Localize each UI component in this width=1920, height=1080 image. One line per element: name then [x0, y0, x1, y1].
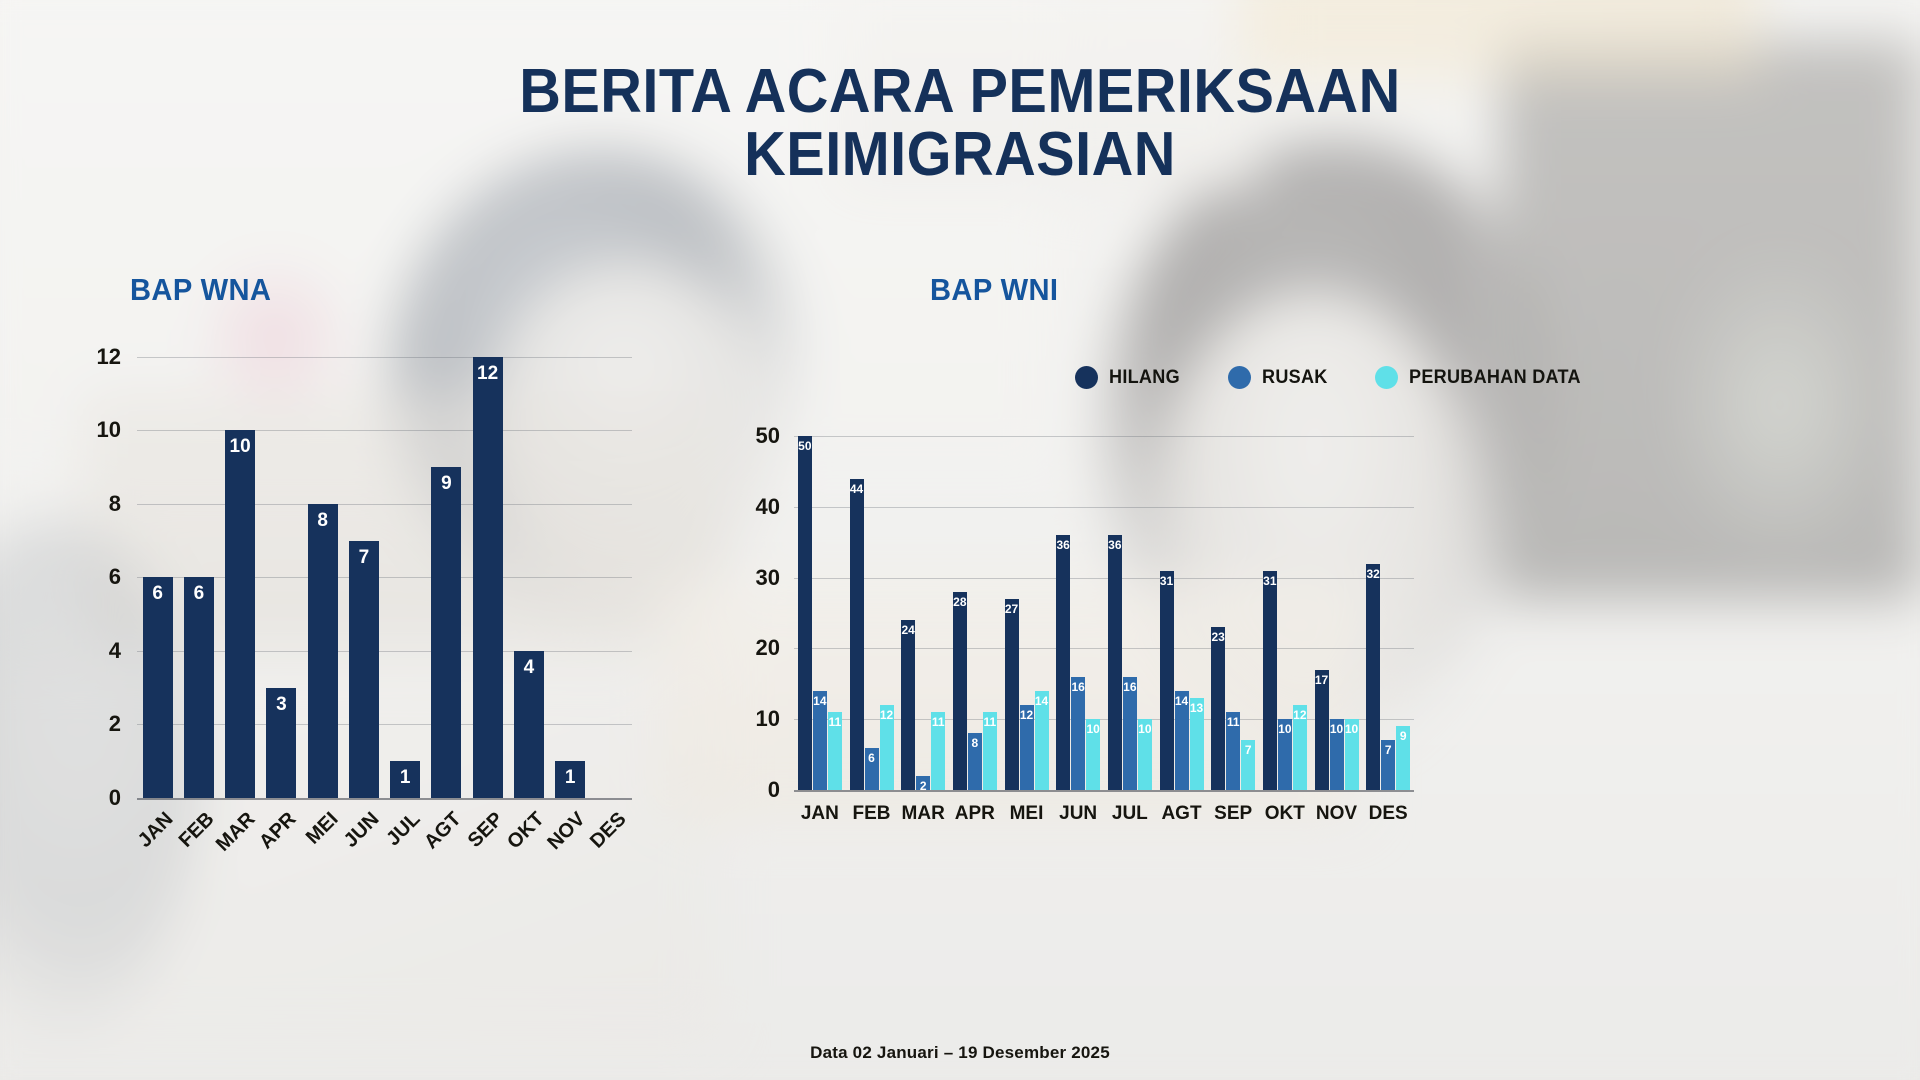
bar-value-label: 16: [1123, 680, 1136, 694]
bar-value-label: 31: [1160, 574, 1173, 588]
bar-hilang-okt[interactable]: 31: [1263, 571, 1277, 790]
bar-rusak-okt[interactable]: 10: [1278, 719, 1292, 790]
legend-item-hilang[interactable]: HILANG: [1075, 366, 1184, 389]
x-axis-tick-label-agt: AGT: [1161, 803, 1201, 825]
bar-value-label: 14: [813, 694, 826, 708]
bar-value-label: 28: [953, 595, 966, 609]
bar-hilang-sep[interactable]: 23: [1211, 627, 1225, 790]
bar-value-label: 36: [1056, 538, 1069, 552]
bar-value-label: 27: [1005, 602, 1018, 616]
y-axis-tick-label: 40: [756, 494, 780, 520]
bar-value-label: 14: [1175, 694, 1188, 708]
x-axis-tick-label-sep: SEP: [1214, 803, 1252, 825]
gridline: [137, 357, 632, 358]
y-axis-tick-label: 10: [756, 706, 780, 732]
bar-perubahan-data-feb[interactable]: 12: [880, 705, 894, 790]
bar-value-label: 7: [1385, 743, 1392, 757]
bar-value-label: 10: [230, 436, 251, 458]
bar-hilang-des[interactable]: 32: [1366, 564, 1380, 790]
bar-value-label: 2: [920, 779, 927, 793]
page-title-line1: BERITA ACARA PEMERIKSAAN: [519, 57, 1400, 126]
bar-value-label: 6: [868, 751, 875, 765]
bar-value-label: 8: [971, 736, 978, 750]
bar-perubahan-data-okt[interactable]: 12: [1293, 705, 1307, 790]
bar-value-label: 11: [828, 715, 841, 729]
x-axis-tick-label-apr: APR: [955, 803, 995, 825]
y-axis-tick-label: 8: [109, 491, 121, 517]
plot-area-wna: 0246810126JAN6FEB10MAR3APR8MEI7JUN1JUL9A…: [137, 320, 632, 798]
bar-hilang-jun[interactable]: 36: [1056, 535, 1070, 790]
y-axis-tick-label: 20: [756, 635, 780, 661]
bar-perubahan-data-mei[interactable]: 14: [1035, 691, 1049, 790]
bar-value-label: 12: [477, 363, 498, 385]
bar-rusak-mar[interactable]: 2: [916, 776, 930, 790]
bar-hilang-jul[interactable]: 36: [1108, 535, 1122, 790]
bar-value-label: 4: [524, 657, 535, 679]
bar-perubahan-data-des[interactable]: 9: [1396, 726, 1410, 790]
y-axis-tick-label: 0: [109, 785, 121, 811]
bar-rusak-apr[interactable]: 8: [968, 733, 982, 790]
bar-rusak-des[interactable]: 7: [1381, 740, 1395, 790]
bar-bap-wna-mei[interactable]: 8: [308, 504, 338, 798]
x-axis-tick-label-jun: JUN: [1059, 803, 1097, 825]
bar-hilang-nov[interactable]: 17: [1315, 670, 1329, 790]
data-range-caption: Data 02 Januari – 19 Desember 2025: [0, 1043, 1920, 1063]
page-title-line2: KEIMIGRASIAN: [67, 123, 1853, 186]
x-axis-tick-label-nov: NOV: [1316, 803, 1357, 825]
bar-perubahan-data-sep[interactable]: 7: [1241, 740, 1255, 790]
bar-rusak-jan[interactable]: 14: [813, 691, 827, 790]
x-axis-tick-label-jan: JAN: [801, 803, 839, 825]
panel-title-wni: BAP WNI: [930, 272, 1058, 308]
bar-rusak-mei[interactable]: 12: [1020, 705, 1034, 790]
bar-value-label: 23: [1211, 630, 1224, 644]
gridline: [794, 436, 1414, 437]
bar-value-label: 32: [1366, 567, 1379, 581]
x-axis-tick-label-okt: OKT: [1265, 803, 1305, 825]
bar-bap-wna-apr[interactable]: 3: [266, 688, 296, 798]
bar-value-label: 7: [359, 547, 370, 569]
bar-value-label: 36: [1108, 538, 1121, 552]
bar-hilang-jan[interactable]: 50: [798, 436, 812, 790]
bar-bap-wna-okt[interactable]: 4: [514, 651, 544, 798]
bar-rusak-jun[interactable]: 16: [1071, 677, 1085, 790]
bar-value-label: 6: [194, 583, 205, 605]
x-axis-line: [137, 798, 632, 800]
bar-perubahan-data-nov[interactable]: 10: [1345, 719, 1359, 790]
bar-bap-wna-feb[interactable]: 6: [184, 577, 214, 798]
bar-rusak-sep[interactable]: 11: [1226, 712, 1240, 790]
gridline: [794, 648, 1414, 649]
x-axis-tick-label-mei: MEI: [1010, 803, 1044, 825]
bar-value-label: 10: [1086, 722, 1099, 736]
bar-value-label: 9: [1400, 729, 1407, 743]
chart-legend: HILANGRUSAKPERUBAHAN DATA: [1075, 366, 1590, 389]
bar-value-label: 9: [441, 473, 452, 495]
bar-value-label: 50: [798, 439, 811, 453]
bar-value-label: 13: [1190, 701, 1203, 715]
bar-value-label: 17: [1315, 673, 1328, 687]
bar-rusak-agt[interactable]: 14: [1175, 691, 1189, 790]
y-axis-tick-label: 4: [109, 638, 121, 664]
gridline: [137, 430, 632, 431]
bar-perubahan-data-jan[interactable]: 11: [828, 712, 842, 790]
legend-item-rusak[interactable]: RUSAK: [1228, 366, 1331, 389]
legend-item-perubahan-data[interactable]: PERUBAHAN DATA: [1375, 366, 1590, 389]
y-axis-tick-label: 10: [97, 417, 121, 443]
bar-value-label: 3: [276, 694, 287, 716]
y-axis-tick-label: 0: [768, 777, 780, 803]
bar-value-label: 11: [983, 715, 996, 729]
bar-value-label: 12: [1293, 708, 1306, 722]
bar-value-label: 1: [400, 767, 411, 789]
bar-bap-wna-sep[interactable]: 12: [473, 357, 503, 798]
bar-value-label: 10: [1138, 722, 1151, 736]
gridline: [794, 507, 1414, 508]
y-axis-tick-label: 50: [756, 423, 780, 449]
legend-label: PERUBAHAN DATA: [1409, 367, 1581, 389]
bar-perubahan-data-jun[interactable]: 10: [1086, 719, 1100, 790]
x-axis-line: [794, 790, 1414, 792]
gridline: [794, 578, 1414, 579]
legend-dot-icon: [1075, 366, 1098, 389]
bar-bap-wna-jan[interactable]: 6: [143, 577, 173, 798]
bar-value-label: 11: [932, 715, 945, 729]
bar-bap-wna-jul[interactable]: 1: [390, 761, 420, 798]
bar-value-label: 10: [1278, 722, 1291, 736]
bar-bap-wna-nov[interactable]: 1: [555, 761, 585, 798]
bar-value-label: 12: [1020, 708, 1033, 722]
y-axis-tick-label: 6: [109, 564, 121, 590]
bar-value-label: 10: [1330, 722, 1343, 736]
y-axis-tick-label: 30: [756, 565, 780, 591]
bar-value-label: 7: [1245, 743, 1252, 757]
legend-dot-icon: [1375, 366, 1398, 389]
bar-value-label: 24: [901, 623, 914, 637]
gridline: [137, 504, 632, 505]
bar-perubahan-data-mar[interactable]: 11: [931, 712, 945, 790]
x-axis-tick-label-des: DES: [1369, 803, 1408, 825]
bar-hilang-agt[interactable]: 31: [1160, 571, 1174, 790]
bar-perubahan-data-agt[interactable]: 13: [1190, 698, 1204, 790]
bar-perubahan-data-apr[interactable]: 11: [983, 712, 997, 790]
bar-perubahan-data-jul[interactable]: 10: [1138, 719, 1152, 790]
bar-value-label: 14: [1035, 694, 1048, 708]
bar-bap-wna-jun[interactable]: 7: [349, 541, 379, 798]
bar-rusak-feb[interactable]: 6: [865, 748, 879, 790]
bar-value-label: 12: [880, 708, 893, 722]
bar-value-label: 16: [1071, 680, 1084, 694]
bar-value-label: 44: [850, 482, 863, 496]
bar-rusak-nov[interactable]: 10: [1330, 719, 1344, 790]
plot-area-wni: 01020304050501411JAN44612FEB24211MAR2881…: [794, 415, 1414, 790]
bar-hilang-apr[interactable]: 28: [953, 592, 967, 790]
page-title: BERITA ACARA PEMERIKSAAN KEIMIGRASIAN: [67, 60, 1853, 186]
legend-label: RUSAK: [1262, 367, 1328, 389]
bar-hilang-mar[interactable]: 24: [901, 620, 915, 790]
bar-value-label: 1: [565, 767, 576, 789]
bar-value-label: 11: [1227, 715, 1240, 729]
legend-dot-icon: [1228, 366, 1251, 389]
legend-label: HILANG: [1109, 367, 1180, 389]
bar-value-label: 8: [317, 510, 328, 532]
y-axis-tick-label: 12: [97, 344, 121, 370]
bar-value-label: 31: [1263, 574, 1276, 588]
bar-value-label: 6: [152, 583, 163, 605]
x-axis-tick-label-feb: FEB: [853, 803, 891, 825]
chart-bap-wni: 01020304050501411JAN44612FEB24211MAR2881…: [794, 415, 1414, 790]
bar-bap-wna-mar[interactable]: 10: [225, 430, 255, 798]
bar-rusak-jul[interactable]: 16: [1123, 677, 1137, 790]
y-axis-tick-label: 2: [109, 711, 121, 737]
bar-hilang-mei[interactable]: 27: [1005, 599, 1019, 790]
x-axis-tick-label-mar: MAR: [902, 803, 945, 825]
bar-bap-wna-agt[interactable]: 9: [431, 467, 461, 798]
x-axis-tick-label-jul: JUL: [1112, 803, 1148, 825]
panel-title-wna: BAP WNA: [130, 272, 271, 308]
chart-bap-wna: 0246810126JAN6FEB10MAR3APR8MEI7JUN1JUL9A…: [137, 320, 632, 798]
bar-value-label: 10: [1345, 722, 1358, 736]
bar-hilang-feb[interactable]: 44: [850, 479, 864, 790]
